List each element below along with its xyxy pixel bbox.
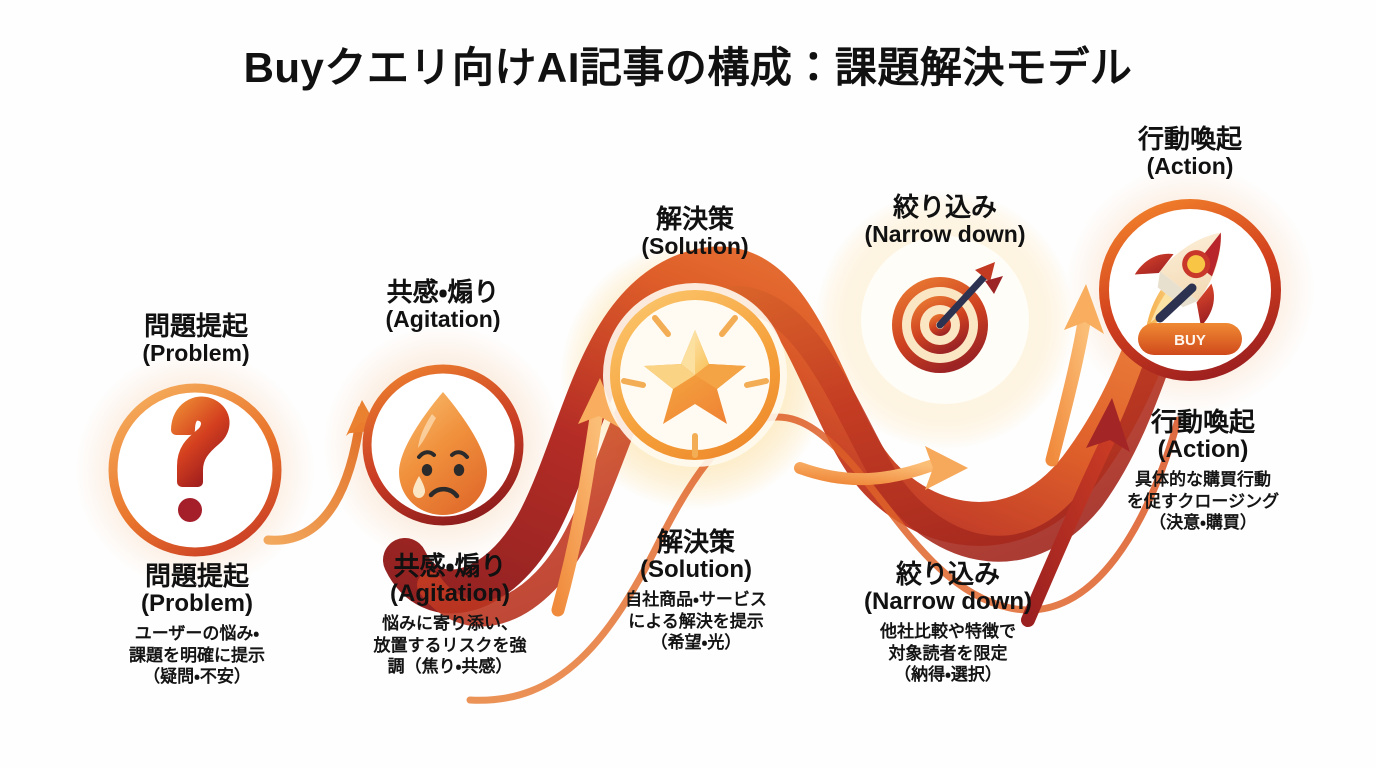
desc-problem-line3: （疑問・不安） xyxy=(143,667,251,686)
top-label-solution: 解決策 (Solution) xyxy=(585,205,805,260)
bottom-label-action-en: (Action) xyxy=(1078,437,1328,464)
bottom-label-solution: 解決策 (Solution) 自社商品・サービス による解決を提示 （希望・光） xyxy=(578,528,814,654)
desc-agitation-line1: 悩みに寄り添い、 xyxy=(382,614,518,633)
desc-problem-line1: ユーザーの悩み・ xyxy=(135,624,259,643)
desc-agitation-line2: 放置するリスクを強 xyxy=(374,636,527,655)
bottom-label-problem-jp: 問題提起 xyxy=(80,562,314,591)
desc-action-line2: を促すクロージング xyxy=(1127,492,1279,511)
top-label-action-jp: 行動喚起 xyxy=(1080,125,1300,154)
top-label-solution-en: (Solution) xyxy=(585,234,805,260)
desc-problem: ユーザーの悩み・ 課題を明確に提示 （疑問・不安） xyxy=(80,623,314,688)
node-agitation[interactable] xyxy=(367,369,519,521)
bottom-label-action: 行動喚起 (Action) 具体的な購買行動 を促すクロージング （決意・購買） xyxy=(1078,408,1328,534)
top-label-action: 行動喚起 (Action) xyxy=(1080,125,1300,180)
top-label-narrow-down: 絞り込み (Narrow down) xyxy=(835,193,1055,248)
infographic-canvas: Buyクエリ向けAI記事の構成：課題解決モデル xyxy=(0,0,1376,768)
top-label-problem-en: (Problem) xyxy=(86,341,306,367)
desc-narrow-down-line2: 対象読者を限定 xyxy=(889,644,1008,663)
top-label-agitation-en: (Agitation) xyxy=(333,307,553,333)
desc-solution-line2: による解決を提示 xyxy=(628,612,764,631)
bottom-label-agitation: 共感・煽り (Agitation) 悩みに寄り添い、 放置するリスクを強 調（焦… xyxy=(330,552,570,678)
desc-action-line3: （決意・購買） xyxy=(1149,513,1257,532)
desc-solution: 自社商品・サービス による解決を提示 （希望・光） xyxy=(578,589,814,654)
top-label-problem-jp: 問題提起 xyxy=(86,312,306,341)
bottom-label-narrow-down-en: (Narrow down) xyxy=(822,589,1074,616)
node-narrow-down[interactable] xyxy=(861,236,1029,404)
node-problem[interactable] xyxy=(113,388,277,552)
desc-action: 具体的な購買行動 を促すクロージング （決意・購買） xyxy=(1078,469,1328,534)
desc-agitation-line3: 調（焦り・共感） xyxy=(388,657,513,676)
desc-narrow-down-line1: 他社比較や特徴で xyxy=(880,622,1016,641)
desc-agitation: 悩みに寄り添い、 放置するリスクを強 調（焦り・共感） xyxy=(330,613,570,678)
desc-solution-line1: 自社商品・サービス xyxy=(625,590,767,609)
bottom-label-solution-jp: 解決策 xyxy=(578,528,814,557)
desc-narrow-down: 他社比較や特徴で 対象読者を限定 （納得・選択） xyxy=(822,621,1074,686)
node-solution[interactable] xyxy=(603,283,787,467)
bottom-label-narrow-down: 絞り込み (Narrow down) 他社比較や特徴で 対象読者を限定 （納得・… xyxy=(822,560,1074,686)
node-action[interactable]: BUY xyxy=(1104,204,1276,376)
bottom-label-agitation-en: (Agitation) xyxy=(330,581,570,608)
bottom-label-problem: 問題提起 (Problem) ユーザーの悩み・ 課題を明確に提示 （疑問・不安） xyxy=(80,562,314,688)
top-label-agitation-jp: 共感・煽り xyxy=(333,278,553,307)
desc-action-line1: 具体的な購買行動 xyxy=(1135,470,1271,489)
top-label-solution-jp: 解決策 xyxy=(585,205,805,234)
desc-solution-line3: （希望・光） xyxy=(651,633,742,652)
desc-narrow-down-line3: （納得・選択） xyxy=(894,665,1002,684)
bottom-label-narrow-down-jp: 絞り込み xyxy=(822,560,1074,589)
bottom-label-solution-en: (Solution) xyxy=(578,557,814,584)
bottom-label-agitation-jp: 共感・煽り xyxy=(330,552,570,581)
desc-problem-line2: 課題を明確に提示 xyxy=(129,646,265,665)
bottom-label-problem-en: (Problem) xyxy=(80,591,314,618)
bottom-label-action-jp: 行動喚起 xyxy=(1078,408,1328,437)
top-label-narrow-down-jp: 絞り込み xyxy=(835,193,1055,222)
buy-button[interactable]: BUY xyxy=(1138,323,1242,355)
top-label-action-en: (Action) xyxy=(1080,154,1300,180)
buy-button-label: BUY xyxy=(1174,332,1206,349)
top-label-agitation: 共感・煽り (Agitation) xyxy=(333,278,553,333)
top-label-narrow-down-en: (Narrow down) xyxy=(835,222,1055,248)
top-label-problem: 問題提起 (Problem) xyxy=(86,312,306,367)
